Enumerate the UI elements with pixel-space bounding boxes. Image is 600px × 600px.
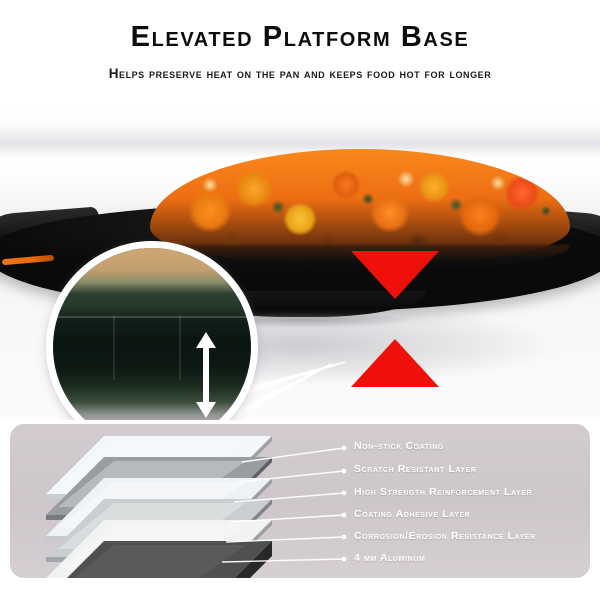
layer-label-3: Coating Adhesive Layer: [354, 508, 470, 520]
coating-construction-panel: Non-stick Coating Scratch Resistant Laye…: [10, 424, 590, 578]
leader-line-4: [226, 537, 344, 542]
leader-line-0: [242, 448, 344, 462]
elevation-height-arrow-icon: [195, 332, 217, 418]
leader-arrowhead-5: [342, 557, 347, 562]
red-triangle-pointing-down-icon: [351, 251, 439, 299]
leader-line-2: [234, 493, 344, 502]
layer-label-1: Scratch Resistant Layer: [354, 463, 477, 475]
leader-line-5: [222, 559, 344, 562]
magnifier-circle: [46, 241, 258, 420]
leader-arrowhead-2: [342, 491, 347, 496]
layer-label-4: Corrosion/Erosion Resistance Layer: [354, 530, 536, 542]
leader-arrowhead-1: [342, 469, 347, 474]
product-photo-panel: [0, 95, 600, 420]
layer-label-2: High Strength Reinforcement Layer: [354, 486, 532, 498]
leader-line-1: [238, 471, 344, 482]
red-triangle-pointing-up-icon: [351, 339, 439, 387]
magnified-base-seam-vertical-1: [113, 316, 115, 380]
leader-arrowhead-4: [342, 535, 347, 540]
page-title: Elevated Platform Base: [0, 21, 600, 54]
layer-label-5: 4 mm Aluminum: [354, 552, 425, 564]
magnified-base-seam-vertical-2: [179, 316, 181, 380]
page-subtitle: Helps preserve heat on the pan and keeps…: [0, 66, 600, 81]
leader-arrowhead-3: [342, 513, 347, 518]
magnified-pan-base-closeup: [53, 248, 251, 420]
magnified-base-seam-horizontal: [53, 316, 251, 318]
leader-line-3: [230, 515, 344, 522]
leader-lines-group: [10, 424, 590, 578]
header-section: Elevated Platform Base Helps preserve he…: [0, 0, 600, 95]
leader-arrowhead-0: [342, 446, 347, 451]
layer-label-0: Non-stick Coating: [354, 440, 444, 452]
